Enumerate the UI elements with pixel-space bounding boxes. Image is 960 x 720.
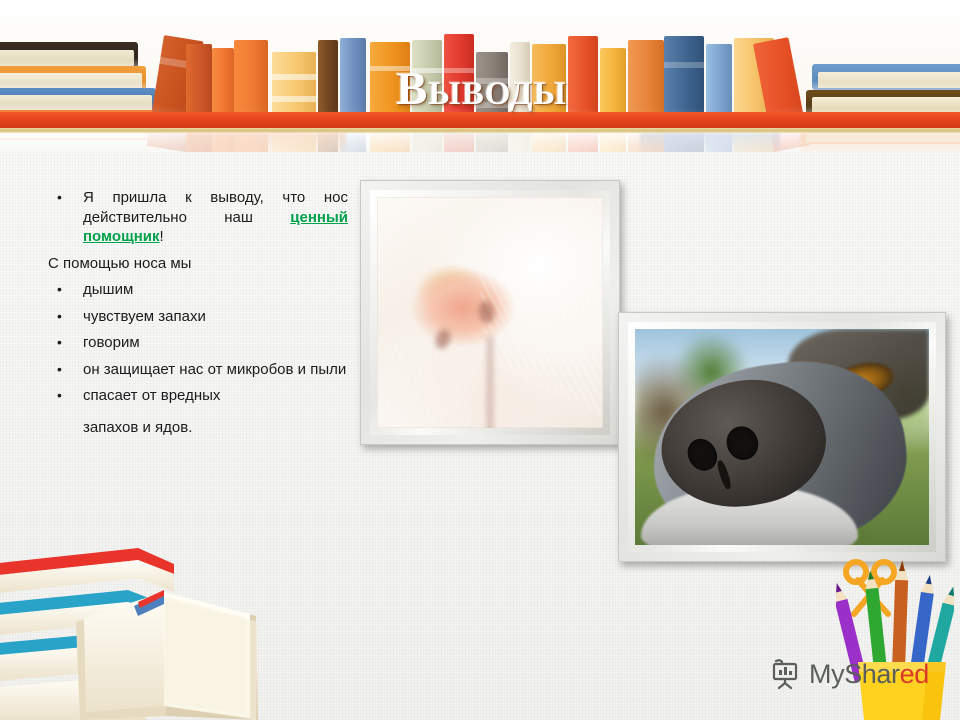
dog-nose-seam xyxy=(716,459,733,490)
dog-photo-inner-bevel xyxy=(628,322,936,552)
logo-text-part1: MyShar xyxy=(809,659,900,689)
dog-nostril-right xyxy=(722,421,764,464)
list-item: • он защищает нас от микробов и пыли xyxy=(48,360,348,380)
slide-body-text: • Я пришла к выводу, что нос действитель… xyxy=(48,188,348,437)
dog-nose-photo-frame[interactable] xyxy=(618,312,946,562)
list-item: • чувствуем запахи xyxy=(48,307,348,327)
list-item-label: спасает от вредных xyxy=(83,386,348,406)
bullet-marker: • xyxy=(48,386,83,406)
logo-text: MyShared xyxy=(809,659,929,690)
bullet-marker: • xyxy=(48,360,83,380)
lead-in-text: С помощью носа мы xyxy=(48,254,348,274)
intro-text-after: ! xyxy=(160,228,164,245)
logo-text-part2: ed xyxy=(900,659,929,689)
list-item: • спасает от вредных xyxy=(48,386,348,406)
bullet-marker: • xyxy=(48,307,83,327)
bullet-marker: • xyxy=(48,280,83,300)
presentation-chart-icon xyxy=(770,658,802,690)
bullet-item-intro: • Я пришла к выводу, что нос действитель… xyxy=(48,188,348,247)
list-item: • дышим xyxy=(48,280,348,300)
page-title: Выводы xyxy=(396,62,567,116)
pencil-cup-illustration xyxy=(836,550,954,720)
cat-nose-photo-frame[interactable] xyxy=(360,180,620,445)
list-item: • говорим xyxy=(48,333,348,353)
myshared-logo[interactable]: MyShared xyxy=(770,658,929,690)
list-item-label: чувствуем запахи xyxy=(83,307,348,327)
list-item-label: дышим xyxy=(83,280,348,300)
tail-text: запахов и ядов. xyxy=(83,418,348,438)
list-item-label: он защищает нас от микробов и пыли xyxy=(83,360,348,380)
bullet-marker: • xyxy=(48,333,83,353)
bottom-left-books-illustration xyxy=(0,530,338,720)
bullet-marker: • xyxy=(48,188,83,247)
bullet-text-intro: Я пришла к выводу, что нос действительно… xyxy=(83,188,348,247)
presentation-slide: Выводы • Я пришла к выводу, что нос дейс… xyxy=(0,0,960,720)
list-item-label: говорим xyxy=(83,333,348,353)
cat-mouth-line xyxy=(487,336,493,428)
dog-nose-photo xyxy=(635,329,929,545)
cat-photo-inner-bevel xyxy=(370,190,610,435)
cat-nose-photo xyxy=(377,197,603,428)
